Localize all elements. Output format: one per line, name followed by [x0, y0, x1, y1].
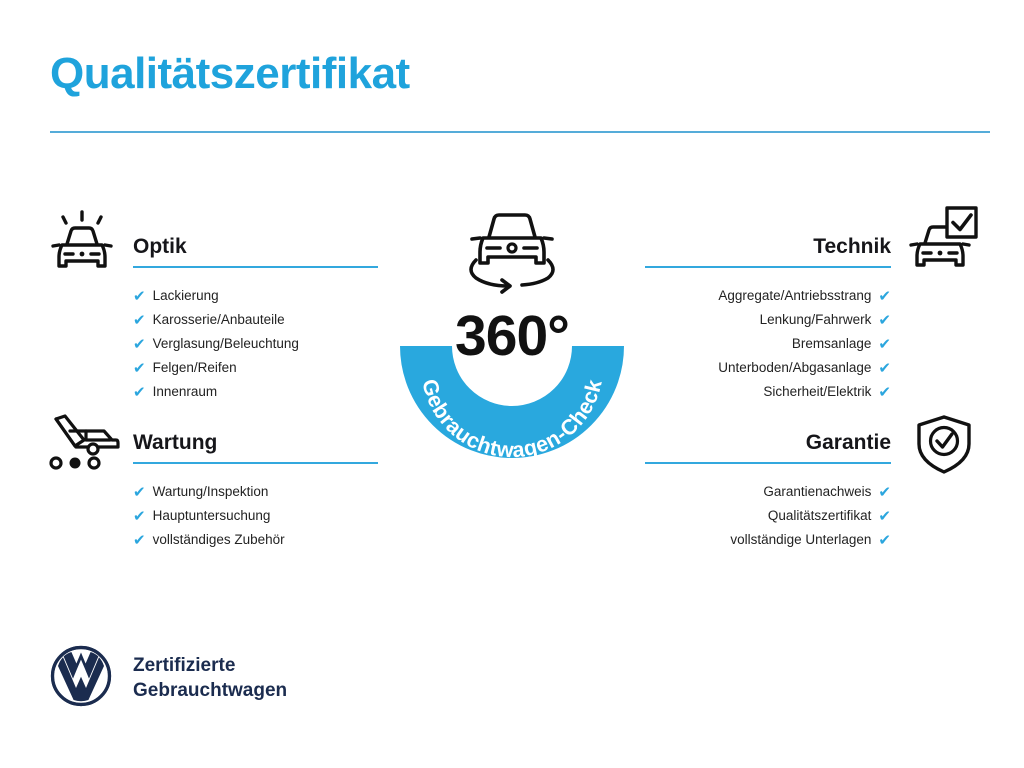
list-item: Garantienachweis✔	[645, 480, 891, 504]
checklist-optik: ✔Lackierung ✔Karosserie/Anbauteile ✔Verg…	[133, 284, 378, 404]
list-item: Qualitätszertifikat✔	[645, 504, 891, 528]
page-title: Qualitätszertifikat	[50, 51, 410, 97]
section-divider-garantie	[645, 462, 891, 464]
list-item: Unterboden/Abgasanlage✔	[645, 356, 891, 380]
shield-check-icon	[912, 414, 976, 481]
list-item: ✔Felgen/Reifen	[133, 356, 378, 380]
list-item: Lenkung/Fahrwerk✔	[645, 308, 891, 332]
checklist-wartung: ✔Wartung/Inspektion ✔Hauptuntersuchung ✔…	[133, 480, 378, 552]
footer-brand: Zertifizierte Gebrauchtwagen	[50, 645, 287, 712]
list-item-label: Innenraum	[153, 380, 218, 404]
check-icon: ✔	[133, 485, 146, 500]
list-item: vollständige Unterlagen✔	[645, 528, 891, 552]
list-item-label: Sicherheit/Elektrik	[763, 380, 871, 404]
title-divider	[50, 131, 990, 133]
list-item: ✔Wartung/Inspektion	[133, 480, 378, 504]
check-icon: ✔	[133, 337, 146, 352]
footer-line-1: Zertifizierte	[133, 654, 287, 678]
section-title-garantie: Garantie	[645, 432, 891, 453]
check-icon: ✔	[878, 385, 891, 400]
check-icon: ✔	[878, 313, 891, 328]
list-item-label: Unterboden/Abgasanlage	[718, 356, 871, 380]
badge-degrees: 360°	[372, 308, 652, 365]
section-divider-wartung	[133, 462, 378, 464]
checklist-garantie: Garantienachweis✔ Qualitätszertifikat✔ v…	[645, 480, 891, 552]
section-title-optik: Optik	[133, 236, 378, 257]
list-item-label: Qualitätszertifikat	[768, 504, 872, 528]
check-icon: ✔	[878, 485, 891, 500]
list-item: ✔Lackierung	[133, 284, 378, 308]
list-item-label: Garantienachweis	[763, 480, 871, 504]
list-item: ✔Hauptuntersuchung	[133, 504, 378, 528]
pencil-car-service-icon	[46, 414, 124, 477]
list-item: ✔Innenraum	[133, 380, 378, 404]
checklist-technik: Aggregate/Antriebsstrang✔ Lenkung/Fahrwe…	[645, 284, 891, 404]
list-item: ✔Verglasung/Beleuchtung	[133, 332, 378, 356]
section-divider-optik	[133, 266, 378, 268]
list-item-label: Wartung/Inspektion	[153, 480, 269, 504]
check-icon: ✔	[133, 509, 146, 524]
list-item-label: vollständiges Zubehör	[153, 528, 285, 552]
check-icon: ✔	[878, 289, 891, 304]
check-icon: ✔	[133, 313, 146, 328]
check-icon: ✔	[878, 509, 891, 524]
section-divider-technik	[645, 266, 891, 268]
car-front-shine-icon	[46, 204, 120, 281]
list-item-label: Karosserie/Anbauteile	[153, 308, 285, 332]
section-garantie: Garantie Garantienachweis✔ Qualitätszert…	[645, 432, 891, 552]
car-rotation-360-icon	[456, 202, 568, 294]
list-item: Sicherheit/Elektrik✔	[645, 380, 891, 404]
list-item-label: Verglasung/Beleuchtung	[153, 332, 299, 356]
check-icon: ✔	[878, 361, 891, 376]
check-icon: ✔	[133, 385, 146, 400]
check-icon: ✔	[878, 533, 891, 548]
section-optik: Optik ✔Lackierung ✔Karosserie/Anbauteile…	[133, 236, 378, 404]
list-item-label: Lackierung	[153, 284, 219, 308]
vw-logo-icon	[50, 645, 112, 712]
list-item-label: Bremsanlage	[792, 332, 872, 356]
list-item: Aggregate/Antriebsstrang✔	[645, 284, 891, 308]
badge-360-check: Gebrauchtwagen-Check	[372, 196, 652, 486]
footer-brand-text: Zertifizierte Gebrauchtwagen	[133, 654, 287, 703]
section-wartung: Wartung ✔Wartung/Inspektion ✔Hauptunters…	[133, 432, 378, 552]
section-title-wartung: Wartung	[133, 432, 378, 453]
section-title-technik: Technik	[645, 236, 891, 257]
list-item-label: Lenkung/Fahrwerk	[760, 308, 872, 332]
certificate-page: Qualitätszertifikat	[0, 0, 1024, 768]
list-item: Bremsanlage✔	[645, 332, 891, 356]
list-item: ✔vollständiges Zubehör	[133, 528, 378, 552]
list-item-label: vollständige Unterlagen	[730, 528, 871, 552]
footer-line-2: Gebrauchtwagen	[133, 679, 287, 703]
check-icon: ✔	[878, 337, 891, 352]
check-icon: ✔	[133, 533, 146, 548]
check-icon: ✔	[133, 361, 146, 376]
section-technik: Technik Aggregate/Antriebsstrang✔ Lenkun…	[645, 236, 891, 404]
check-icon: ✔	[133, 289, 146, 304]
list-item-label: Aggregate/Antriebsstrang	[718, 284, 871, 308]
car-front-checkbox-icon	[906, 204, 980, 281]
list-item-label: Hauptuntersuchung	[153, 504, 271, 528]
list-item: ✔Karosserie/Anbauteile	[133, 308, 378, 332]
list-item-label: Felgen/Reifen	[153, 356, 237, 380]
